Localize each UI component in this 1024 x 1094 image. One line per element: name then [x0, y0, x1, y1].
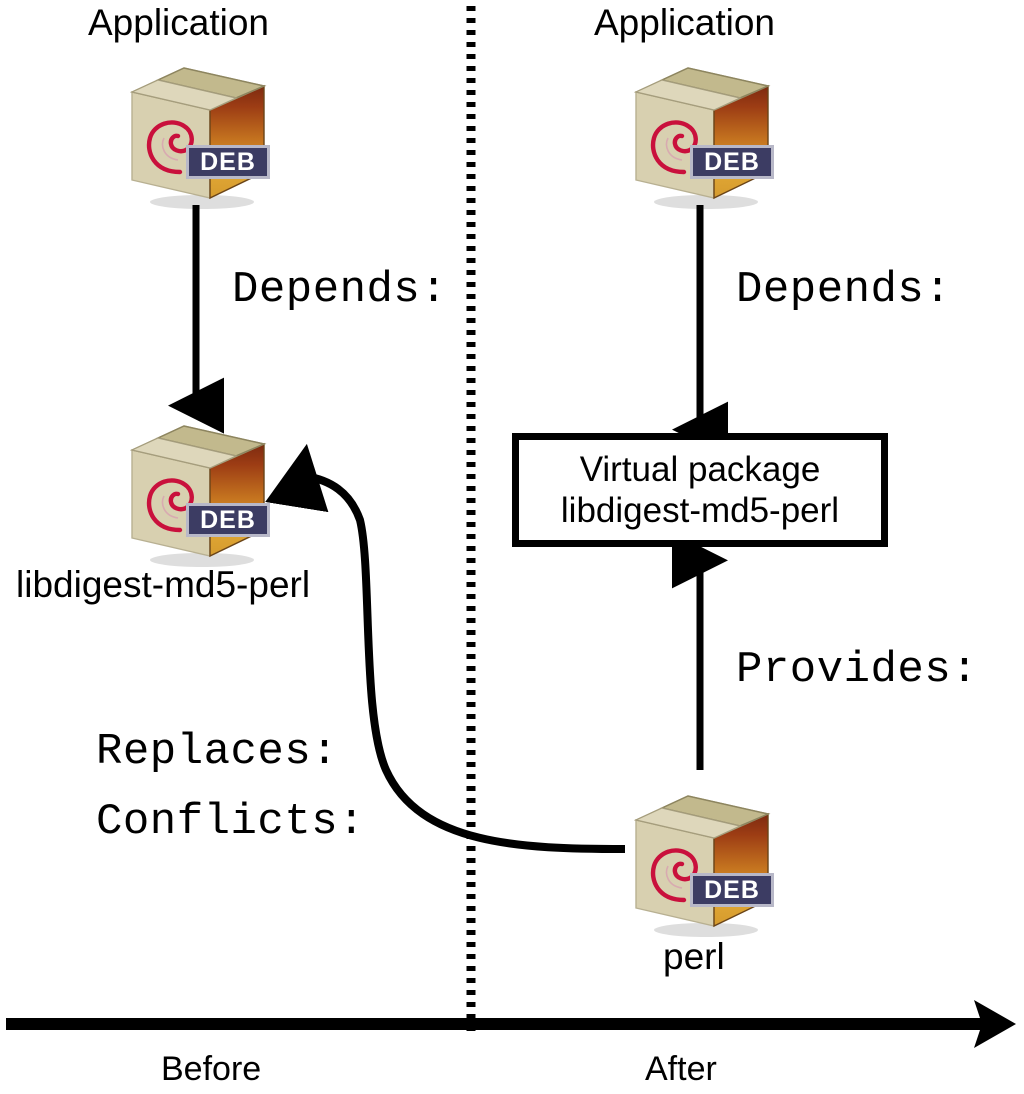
before-application-label: Application — [88, 4, 269, 41]
timeline-label-after: After — [645, 1052, 717, 1086]
virtual-package-line2: libdigest-md5-perl — [561, 490, 839, 531]
deb-badge-after-application: DEB — [690, 145, 774, 179]
diagram-canvas: DEB — [0, 0, 1024, 1094]
deb-package-icon-perl — [622, 780, 782, 938]
timeline-label-before: Before — [161, 1052, 261, 1086]
deb-package-icon-libdigest-md5-perl — [118, 410, 278, 568]
after-application-label: Application — [594, 4, 775, 41]
libdigest-md5-perl-label: libdigest-md5-perl — [16, 566, 310, 603]
perl-label: perl — [663, 938, 725, 975]
provides-label: Provides: — [736, 648, 978, 692]
replaces-label: Replaces: — [96, 730, 338, 774]
deb-badge-label: DEB — [200, 150, 256, 175]
before-depends-label: Depends: — [232, 268, 447, 312]
deb-badge-label: DEB — [200, 508, 256, 533]
after-depends-label: Depends: — [736, 268, 951, 312]
virtual-package-box: Virtual package libdigest-md5-perl — [512, 433, 888, 547]
deb-package-icon-before-application — [118, 52, 278, 210]
deb-badge-perl: DEB — [690, 873, 774, 907]
deb-package-icon-after-application — [622, 52, 782, 210]
deb-badge-libdigest-md5-perl: DEB — [186, 503, 270, 537]
deb-badge-label: DEB — [704, 878, 760, 903]
virtual-package-line1: Virtual package — [580, 449, 821, 490]
deb-badge-label: DEB — [704, 150, 760, 175]
conflicts-label: Conflicts: — [96, 800, 365, 844]
deb-badge-before-application: DEB — [186, 145, 270, 179]
